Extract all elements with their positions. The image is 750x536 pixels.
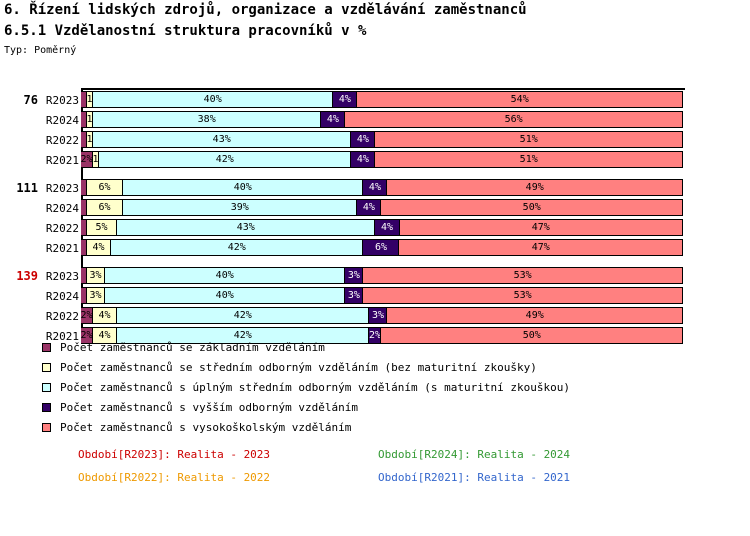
bar-segment-label: 38% (198, 115, 216, 125)
bar-segment-label: 3% (348, 291, 360, 301)
bar-segment-label: 40% (216, 291, 234, 301)
bar-segment-label: 4% (369, 183, 381, 193)
bar-segment[interactable]: 43% (93, 132, 351, 147)
legend-label: Počet zaměstnanců se středním odborným v… (60, 362, 537, 373)
table-row[interactable]: 4%42%6%47% (81, 239, 683, 256)
period-legend-item: Období[R2023]: Realita - 2023 (78, 448, 270, 461)
bar-segment-label: 47% (532, 223, 550, 233)
bar-segment-label: 3% (89, 291, 101, 301)
bar-segment-label: 54% (511, 95, 529, 105)
bar-segment[interactable]: 2% (369, 328, 381, 343)
bar-segment[interactable]: 49% (387, 180, 681, 195)
bar-segment-label: 53% (514, 291, 532, 301)
bar-segment-label: 4% (339, 95, 351, 105)
bar-segment-label: 39% (231, 203, 249, 213)
bar-segment[interactable]: 42% (117, 308, 369, 323)
bar-segment-label: 43% (213, 135, 231, 145)
bar-segment-label: 4% (381, 223, 393, 233)
legend-swatch (42, 403, 51, 412)
bar-segment[interactable]: 40% (105, 288, 345, 303)
legend-item: Počet zaměstnanců s vysokoškolským vzděl… (42, 420, 351, 434)
bar-segment[interactable]: 3% (345, 268, 363, 283)
row-label: R2023 (38, 94, 79, 107)
bar-segment[interactable]: 2% (81, 308, 93, 323)
table-row[interactable]: 6%39%4%50% (81, 199, 683, 216)
bar-segment-label: 4% (357, 155, 369, 165)
bar-segment-label: 51% (520, 155, 538, 165)
row-label: R2024 (38, 202, 79, 215)
legend-label: Počet zaměstnanců se základním vzděláním (60, 342, 325, 353)
bar-segment-label: 2% (81, 155, 93, 165)
bar-segment[interactable]: 4% (93, 308, 117, 323)
chart-type-label: Typ: Poměrný (4, 45, 76, 56)
group-label: 139 (4, 269, 38, 283)
row-label: R2023 (38, 182, 79, 195)
bar-segment-label: 42% (234, 311, 252, 321)
legend-item: Počet zaměstnanců s vyšším odborným vzdě… (42, 400, 358, 414)
bar-segment-label: 4% (357, 135, 369, 145)
bar-segment-label: 4% (363, 203, 375, 213)
period-legend-item: Období[R2022]: Realita - 2022 (78, 471, 270, 484)
chart-axis-horizontal (81, 88, 685, 90)
bar-segment[interactable]: 39% (123, 200, 357, 215)
bar-segment[interactable]: 51% (375, 132, 682, 147)
bar-segment[interactable]: 54% (357, 92, 682, 107)
bar-segment-label: 4% (92, 243, 104, 253)
legend-swatch (42, 383, 51, 392)
bar-segment-label: 3% (89, 271, 101, 281)
bar-segment-label: 43% (237, 223, 255, 233)
bar-segment-label: 4% (99, 311, 111, 321)
bar-segment[interactable]: 6% (87, 180, 123, 195)
table-row[interactable]: 140%4%54% (81, 91, 683, 108)
bar-segment-label: 4% (327, 115, 339, 125)
table-row[interactable]: 143%4%51% (81, 131, 683, 148)
bar-segment[interactable]: 4% (321, 112, 345, 127)
bar-segment[interactable]: 51% (375, 152, 682, 167)
bar-segment[interactable]: 40% (105, 268, 345, 283)
legend-swatch (42, 343, 51, 352)
row-label: R2021 (38, 154, 79, 167)
table-row[interactable]: 138%4%56% (81, 111, 683, 128)
bar-segment[interactable]: 3% (87, 288, 105, 303)
bar-segment-label: 47% (532, 243, 550, 253)
bar-segment-label: 6% (99, 183, 111, 193)
bar-segment-label: 1 (93, 155, 99, 165)
row-label: R2024 (38, 290, 79, 303)
row-label: R2024 (38, 114, 79, 127)
stacked-bar-chart: 76R2023140%4%54%R2024138%4%56%R2022143%4… (0, 80, 750, 330)
bar-segment-label: 1 (87, 135, 93, 145)
bar-segment-label: 49% (526, 183, 544, 193)
table-row[interactable]: 3%40%3%53% (81, 287, 683, 304)
table-row[interactable]: 2%142%4%51% (81, 151, 683, 168)
bar-segment[interactable]: 42% (99, 152, 351, 167)
bar-segment[interactable]: 4% (351, 152, 375, 167)
group-label: 111 (4, 181, 38, 195)
bar-segment[interactable]: 49% (387, 308, 681, 323)
table-row[interactable]: 5%43%4%47% (81, 219, 683, 236)
group-label: 76 (4, 93, 38, 107)
bar-segment-label: 53% (514, 271, 532, 281)
bar-segment[interactable]: 42% (111, 240, 363, 255)
bar-segment-label: 40% (204, 95, 222, 105)
bar-segment[interactable]: 4% (363, 180, 387, 195)
bar-segment-label: 3% (348, 271, 360, 281)
bar-segment-label: 40% (234, 183, 252, 193)
bar-segment[interactable]: 4% (351, 132, 375, 147)
bar-segment-label: 42% (216, 155, 234, 165)
bar-segment[interactable]: 4% (333, 92, 357, 107)
row-label: R2022 (38, 134, 79, 147)
row-label: R2021 (38, 242, 79, 255)
period-legend-item: Období[R2024]: Realita - 2024 (378, 448, 570, 461)
legend-label: Počet zaměstnanců s vysokoškolským vzděl… (60, 422, 351, 433)
bar-segment[interactable]: 4% (87, 240, 111, 255)
bar-segment[interactable]: 40% (93, 92, 333, 107)
bar-segment[interactable]: 3% (87, 268, 105, 283)
bar-segment[interactable]: 5% (87, 220, 117, 235)
bar-segment-label: 56% (505, 115, 523, 125)
bar-segment-label: 51% (520, 135, 538, 145)
bar-segment-label: 5% (96, 223, 108, 233)
bar-segment[interactable]: 4% (357, 200, 381, 215)
row-label: R2022 (38, 222, 79, 235)
bar-segment-label: 4% (99, 331, 111, 341)
table-row[interactable]: 6%40%4%49% (81, 179, 683, 196)
legend-item: Počet zaměstnanců se základním vzděláním (42, 340, 325, 354)
bar-segment-label: 1 (87, 115, 93, 125)
bar-segment[interactable]: 50% (381, 328, 682, 343)
bar-segment-label: 42% (228, 243, 246, 253)
bar-segment[interactable]: 6% (87, 200, 123, 215)
bar-segment[interactable]: 47% (399, 240, 681, 255)
bar-segment[interactable]: 40% (123, 180, 363, 195)
bar-segment[interactable]: 50% (381, 200, 682, 215)
bar-segment[interactable]: 53% (363, 268, 682, 283)
legend-item: Počet zaměstnanců s úplným středním odbo… (42, 380, 570, 394)
bar-segment-label: 42% (234, 331, 252, 341)
bar-segment[interactable]: 43% (117, 220, 375, 235)
bar-segment-label: 3% (372, 311, 384, 321)
table-row[interactable]: 3%40%3%53% (81, 267, 683, 284)
bar-segment[interactable]: 3% (369, 308, 387, 323)
bar-segment-label: 50% (523, 331, 541, 341)
legend-swatch (42, 423, 51, 432)
bar-segment[interactable]: 4% (375, 220, 399, 235)
legend-swatch (42, 363, 51, 372)
bar-segment-label: 6% (375, 243, 387, 253)
bar-segment[interactable]: 53% (363, 288, 682, 303)
page-title: 6. Řízení lidských zdrojů, organizace a … (4, 2, 527, 18)
bar-segment[interactable]: 38% (93, 112, 321, 127)
bar-segment-label: 1 (87, 95, 93, 105)
bar-segment[interactable]: 6% (363, 240, 399, 255)
legend-label: Počet zaměstnanců s vyšším odborným vzdě… (60, 402, 358, 413)
bar-segment[interactable]: 3% (345, 288, 363, 303)
bar-segment[interactable]: 2% (81, 152, 93, 167)
bar-segment-label: 2% (81, 331, 93, 341)
bar-segment-label: 40% (216, 271, 234, 281)
bar-segment-label: 49% (526, 311, 544, 321)
period-legend-item: Období[R2021]: Realita - 2021 (378, 471, 570, 484)
row-label: R2023 (38, 270, 79, 283)
bar-segment-label: 6% (99, 203, 111, 213)
page-subtitle: 6.5.1 Vzdělanostní struktura pracovníků … (4, 23, 366, 39)
legend-label: Počet zaměstnanců s úplným středním odbo… (60, 382, 570, 393)
table-row[interactable]: 2%4%42%3%49% (81, 307, 683, 324)
legend-item: Počet zaměstnanců se středním odborným v… (42, 360, 537, 374)
bar-segment[interactable]: 56% (345, 112, 682, 127)
row-label: R2022 (38, 310, 79, 323)
bar-segment[interactable]: 47% (400, 220, 682, 235)
bar-segment-label: 50% (523, 203, 541, 213)
bar-segment-label: 2% (369, 331, 381, 341)
bar-segment-label: 2% (81, 311, 93, 321)
